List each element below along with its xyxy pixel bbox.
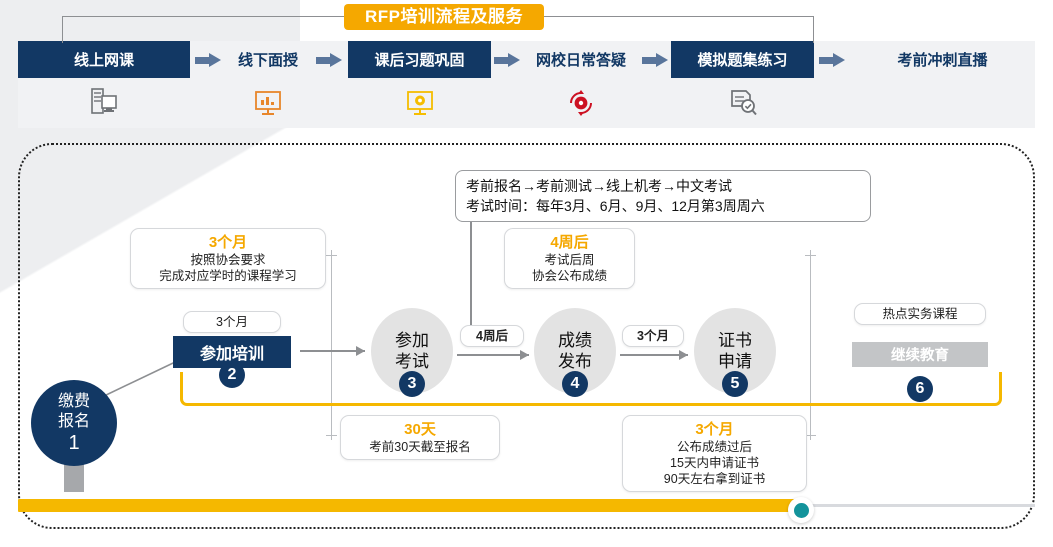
node-number-badge-4: 4	[562, 371, 588, 397]
exam-note-leader-vertical	[470, 216, 472, 338]
callout-result-duration: 4周后 考试后周 协会公布成绩	[504, 228, 635, 289]
stage-row: 线上网课 线下面授 课后习题巩固 网校日常答疑 模拟题集练习 考前冲刺	[18, 41, 1035, 78]
node-label: 参加培训	[200, 340, 264, 364]
stage-label: 线下面授	[238, 49, 298, 70]
connector-exam-to-score	[457, 350, 529, 360]
arrow-right-icon	[819, 53, 845, 67]
arrow-right-icon	[316, 53, 342, 67]
stage-label: 网校日常答疑	[536, 49, 626, 70]
callout-headline: 3个月	[632, 420, 797, 439]
tag-training-duration: 3个月	[183, 311, 281, 333]
title-drop-right	[813, 16, 814, 43]
stage-item-homework[interactable]: 课后习题巩固	[348, 41, 491, 78]
stage-arrow-3	[491, 41, 523, 78]
icon-cell-daily-qa	[523, 78, 639, 128]
divider-tick	[326, 435, 337, 436]
exam-note-line-2: 考试时间：每年3月、6月、9月、12月第3周周六	[466, 196, 860, 216]
node-label-line-2: 申请	[718, 351, 752, 372]
column-divider-left	[331, 250, 332, 440]
exam-process-note: 考前报名→考前测试→线上机考→中文考试 考试时间：每年3月、6月、9月、12月第…	[455, 170, 871, 222]
stage-item-sprint-live[interactable]: 考前冲刺直播	[850, 41, 1035, 78]
divider-tick	[326, 255, 337, 256]
callout-line-1: 考前30天截至报名	[350, 439, 490, 455]
monitor-chart-icon	[254, 89, 282, 117]
callout-line-2: 协会公布成绩	[514, 268, 625, 284]
callout-exam-deadline: 30天 考前30天截至报名	[340, 415, 500, 460]
stage-arrow-2	[310, 41, 348, 78]
callout-line-1: 公布成绩过后	[632, 439, 797, 455]
node-pay-register[interactable]: 缴费 报名 1	[31, 380, 117, 466]
tag-three-months: 3个月	[622, 325, 684, 347]
callout-headline: 30天	[350, 420, 490, 439]
callout-line-2: 15天内申请证书	[632, 455, 797, 471]
node-continuing-edu[interactable]: 继续教育	[852, 342, 988, 367]
icon-cell-homework	[348, 78, 491, 128]
stage-arrow-1	[190, 41, 226, 78]
connector-score-to-cert	[620, 350, 688, 360]
progress-handle-dot	[794, 503, 809, 518]
icon-cell-gap-1	[190, 78, 226, 128]
icon-cell-gap-3	[491, 78, 523, 128]
tag-four-weeks: 4周后	[460, 325, 524, 347]
callout-line-2: 完成对应学时的课程学习	[140, 268, 316, 284]
node-label-line-2: 考试	[395, 351, 429, 372]
node-label-line-2: 发布	[558, 351, 592, 372]
stage-item-online-course[interactable]: 线上网课	[18, 41, 190, 78]
node-number: 1	[68, 432, 79, 454]
stage-item-mock-exam[interactable]: 模拟题集练习	[671, 41, 814, 78]
callout-line-1: 按照协会要求	[140, 252, 316, 268]
title-line-right	[540, 16, 814, 17]
stage-arrow-4	[639, 41, 671, 78]
callout-cert-timeline: 3个月 公布成绩过后 15天内申请证书 90天左右拿到证书	[622, 415, 807, 492]
node-label: 继续教育	[891, 344, 949, 365]
node-label-line-1: 证书	[718, 330, 752, 351]
tag-hot-course: 热点实务课程	[854, 303, 986, 325]
arrow-right-icon	[642, 53, 668, 67]
page-title: RFP培训流程及服务	[344, 4, 544, 30]
stage-label: 考前冲刺直播	[897, 49, 987, 70]
node-number-badge-2: 2	[219, 362, 245, 388]
monitor-document-icon	[91, 88, 117, 118]
icon-cell-sprint-live	[850, 78, 1035, 128]
callout-headline: 3个月	[140, 233, 316, 252]
diagram-canvas: RFP培训流程及服务 线上网课 线下面授 课后习题巩固 网校日常答疑 模拟题集练…	[0, 0, 1053, 547]
progress-fill	[18, 499, 800, 512]
callout-line-1: 考试后周	[514, 252, 625, 268]
connector-training-to-exam	[300, 346, 365, 356]
node-label-line-2: 报名	[58, 412, 90, 432]
stage-label: 模拟题集练习	[697, 49, 787, 70]
tag-label: 热点实务课程	[861, 306, 979, 322]
node-number-badge-3: 3	[399, 371, 425, 397]
stage-icon-row	[18, 78, 1035, 128]
progress-track[interactable]	[18, 504, 1035, 507]
node-number-badge-5: 5	[722, 371, 748, 397]
icon-cell-gap-4	[639, 78, 671, 128]
exam-note-line-1: 考前报名→考前测试→线上机考→中文考试	[466, 176, 860, 196]
stage-arrow-5	[814, 41, 850, 78]
icon-cell-mock-exam	[671, 78, 814, 128]
stage-label: 线上网课	[74, 49, 134, 70]
title-line-left	[62, 16, 349, 17]
progress-handle[interactable]	[788, 497, 814, 523]
stage-item-daily-qa[interactable]: 网校日常答疑	[523, 41, 639, 78]
arrow-right-icon	[494, 53, 520, 67]
icon-cell-offline-class	[226, 78, 310, 128]
node-label-line-1: 缴费	[58, 392, 90, 412]
node-number-badge-6: 6	[907, 376, 933, 402]
callout-training-duration: 3个月 按照协会要求 完成对应学时的课程学习	[130, 228, 326, 289]
callout-line-3: 90天左右拿到证书	[632, 471, 797, 487]
document-search-icon	[728, 89, 758, 117]
arrow-right-icon	[195, 53, 221, 67]
stage-item-offline-class[interactable]: 线下面授	[226, 41, 310, 78]
callout-headline: 4周后	[514, 233, 625, 252]
icon-cell-gap-2	[310, 78, 348, 128]
monitor-gear-icon	[406, 89, 434, 117]
node-label-line-1: 参加	[395, 330, 429, 351]
tag-label: 4周后	[466, 328, 518, 344]
tag-label: 3个月	[190, 314, 274, 330]
column-divider-right	[810, 250, 811, 440]
gear-refresh-icon	[567, 89, 595, 117]
banner-title-connector: RFP培训流程及服务	[0, 2, 1053, 32]
icon-cell-online-course	[18, 78, 190, 128]
tag-label: 3个月	[628, 328, 678, 344]
icon-cell-gap-5	[814, 78, 850, 128]
title-drop-left	[62, 16, 63, 43]
stage-label: 课后习题巩固	[374, 49, 464, 70]
divider-tick	[805, 255, 816, 256]
node-label-line-1: 成绩	[558, 330, 592, 351]
